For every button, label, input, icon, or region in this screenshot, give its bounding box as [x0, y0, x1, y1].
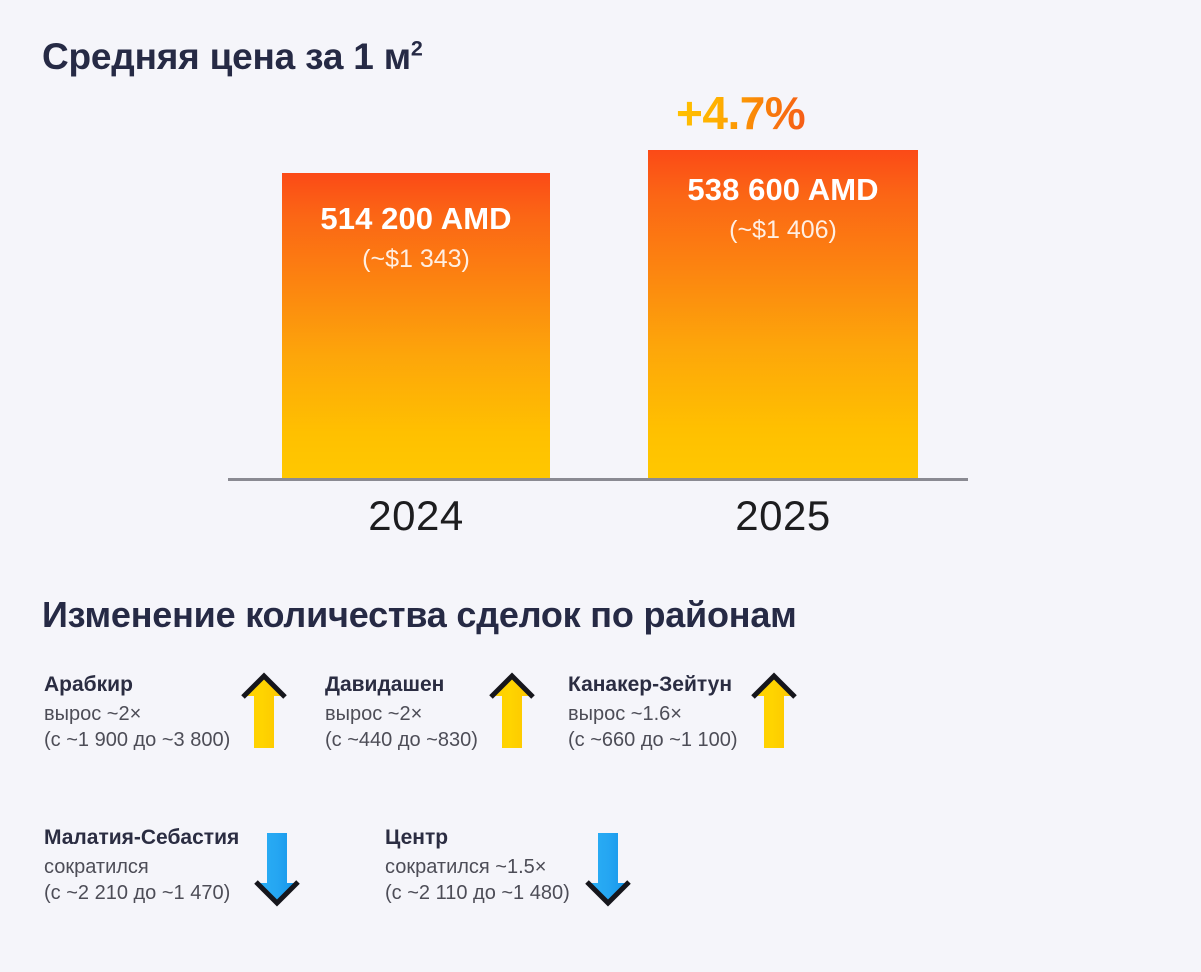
district-change: сократился ~1.5× — [385, 854, 570, 880]
bar-2024-usd-value: (~$1 343) — [282, 245, 550, 274]
bar-2024-value: 514 200 AMD — [282, 201, 550, 237]
square-meter-superscript: 2 — [411, 37, 423, 61]
bar-2025-usd-value: (~$1 406) — [648, 216, 918, 245]
district-item-kanaker-zeytun[interactable]: Канакер-Зейтун вырос ~1.6× (с ~660 до ~1… — [568, 672, 798, 753]
x-axis-label-2025: 2025 — [648, 492, 918, 540]
price-change-badge: +4.7% — [676, 86, 805, 140]
bar-2025[interactable]: 538 600 AMD (~$1 406) — [648, 150, 918, 479]
district-range: (с ~2 210 до ~1 470) — [44, 880, 239, 906]
arrow-up-icon — [240, 672, 288, 748]
district-range: (с ~660 до ~1 100) — [568, 727, 738, 753]
page-title: Средняя цена за 1 м2 — [42, 36, 423, 78]
district-item-center[interactable]: Центр сократился ~1.5× (с ~2 110 до ~1 4… — [385, 825, 632, 907]
district-text-block: Центр сократился ~1.5× (с ~2 110 до ~1 4… — [385, 825, 570, 906]
district-range: (с ~2 110 до ~1 480) — [385, 880, 570, 906]
chart-baseline-axis — [228, 478, 968, 481]
district-change: сократился — [44, 854, 239, 880]
district-text-block: Канакер-Зейтун вырос ~1.6× (с ~660 до ~1… — [568, 672, 738, 753]
district-change: вырос ~2× — [44, 701, 230, 727]
arrow-down-icon — [253, 831, 301, 907]
districts-title: Изменение количества сделок по районам — [42, 594, 797, 636]
bar-2025-value: 538 600 AMD — [648, 172, 918, 208]
district-name: Малатия-Себастия — [44, 825, 239, 851]
district-name: Канакер-Зейтун — [568, 672, 738, 698]
district-item-davidashen[interactable]: Давидашен вырос ~2× (с ~440 до ~830) — [325, 672, 536, 753]
district-change: вырос ~1.6× — [568, 701, 738, 727]
district-text-block: Давидашен вырос ~2× (с ~440 до ~830) — [325, 672, 478, 753]
arrow-up-icon — [488, 672, 536, 748]
district-item-malatia-sebastia[interactable]: Малатия-Себастия сократился (с ~2 210 до… — [44, 825, 301, 907]
district-item-arabkir[interactable]: Арабкир вырос ~2× (с ~1 900 до ~3 800) — [44, 672, 288, 753]
page-title-text: Средняя цена за 1 м — [42, 36, 411, 77]
district-range: (с ~440 до ~830) — [325, 727, 478, 753]
price-chart-section: Средняя цена за 1 м2 +4.7% 514 200 AMD (… — [0, 0, 1201, 570]
district-name: Давидашен — [325, 672, 478, 698]
district-text-block: Малатия-Себастия сократился (с ~2 210 до… — [44, 825, 239, 906]
district-range: (с ~1 900 до ~3 800) — [44, 727, 230, 753]
x-axis-label-2024: 2024 — [282, 492, 550, 540]
arrow-down-icon — [584, 831, 632, 907]
district-name: Арабкир — [44, 672, 230, 698]
district-text-block: Арабкир вырос ~2× (с ~1 900 до ~3 800) — [44, 672, 230, 753]
district-name: Центр — [385, 825, 570, 851]
bar-2024[interactable]: 514 200 AMD (~$1 343) — [282, 173, 550, 479]
arrow-up-icon — [750, 672, 798, 748]
district-change: вырос ~2× — [325, 701, 478, 727]
